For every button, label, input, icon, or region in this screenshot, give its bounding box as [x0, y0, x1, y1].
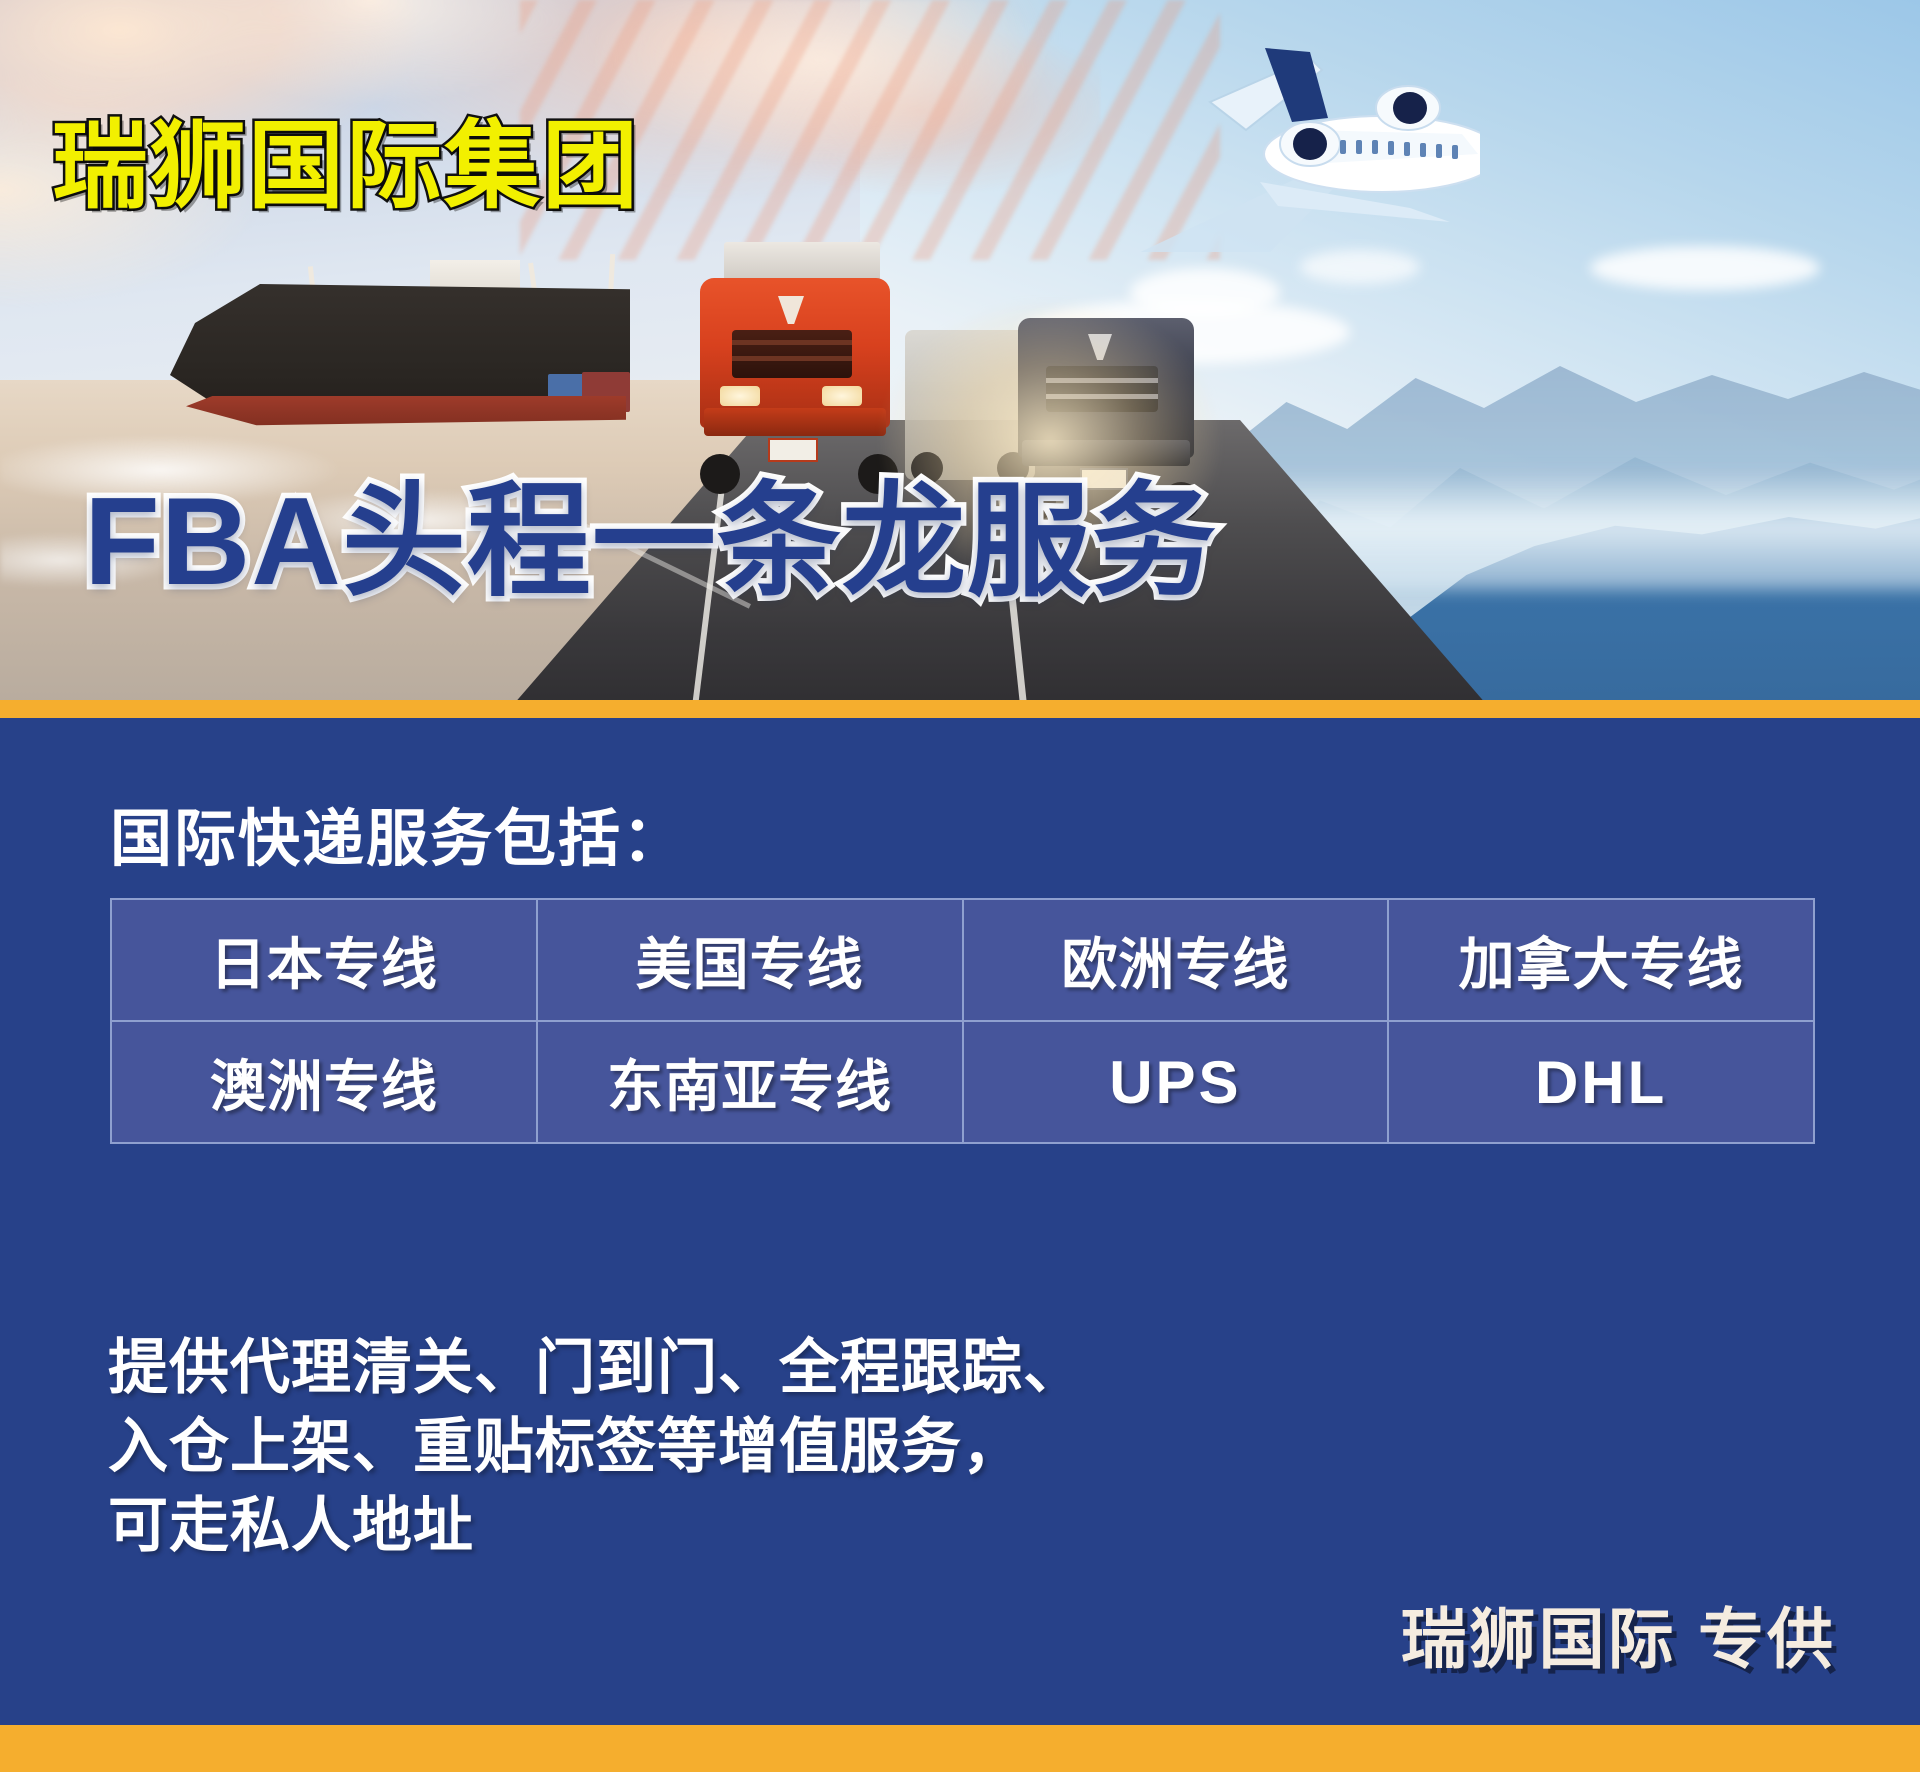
service-cell-canada[interactable]: 加拿大专线 — [1388, 899, 1814, 1021]
airplane-icon — [1010, 22, 1480, 252]
feature-line: 提供代理清关、门到门、全程跟踪、 — [108, 1328, 1084, 1407]
page-title: FBA头程一条龙服务 — [84, 440, 1217, 620]
cloud-icon — [1590, 246, 1820, 290]
cloud-icon — [1130, 268, 1280, 318]
feature-list: 提供代理清关、门到门、全程跟踪、 入仓上架、重贴标签等增值服务， 可走私人地址 — [108, 1328, 1084, 1566]
service-cell-southeast-asia[interactable]: 东南亚专线 — [537, 1021, 963, 1143]
poster: 瑞狮国际集团 FBA头程一条龙服务 国际快递服务包括： 日本专线 美国专线 欧洲… — [0, 0, 1920, 1772]
company-logo: 瑞狮国际集团 — [52, 88, 640, 227]
cargo-ship-icon — [130, 236, 650, 446]
service-cell-ups[interactable]: UPS — [963, 1021, 1389, 1143]
feature-line: 入仓上架、重贴标签等增值服务， — [108, 1407, 1084, 1486]
service-cell-japan[interactable]: 日本专线 — [111, 899, 537, 1021]
table-row: 日本专线 美国专线 欧洲专线 加拿大专线 — [111, 899, 1814, 1021]
service-table: 日本专线 美国专线 欧洲专线 加拿大专线 澳洲专线 东南亚专线 UPS DHL — [110, 898, 1815, 1144]
service-cell-usa[interactable]: 美国专线 — [537, 899, 963, 1021]
info-panel: 国际快递服务包括： 日本专线 美国专线 欧洲专线 加拿大专线 澳洲专线 东南亚专… — [0, 718, 1920, 1725]
service-cell-europe[interactable]: 欧洲专线 — [963, 899, 1389, 1021]
accent-divider-bottom — [0, 1725, 1920, 1772]
section-title: 国际快递服务包括： — [110, 788, 686, 878]
table-row: 澳洲专线 东南亚专线 UPS DHL — [111, 1021, 1814, 1143]
hero-image: 瑞狮国际集团 FBA头程一条龙服务 — [0, 0, 1920, 712]
cloud-icon — [1300, 250, 1420, 284]
service-cell-dhl[interactable]: DHL — [1388, 1021, 1814, 1143]
accent-divider-top — [0, 700, 1920, 718]
footer-brand: 瑞狮国际 专供 — [1401, 1586, 1836, 1682]
service-cell-australia[interactable]: 澳洲专线 — [111, 1021, 537, 1143]
feature-line: 可走私人地址 — [108, 1486, 1084, 1565]
